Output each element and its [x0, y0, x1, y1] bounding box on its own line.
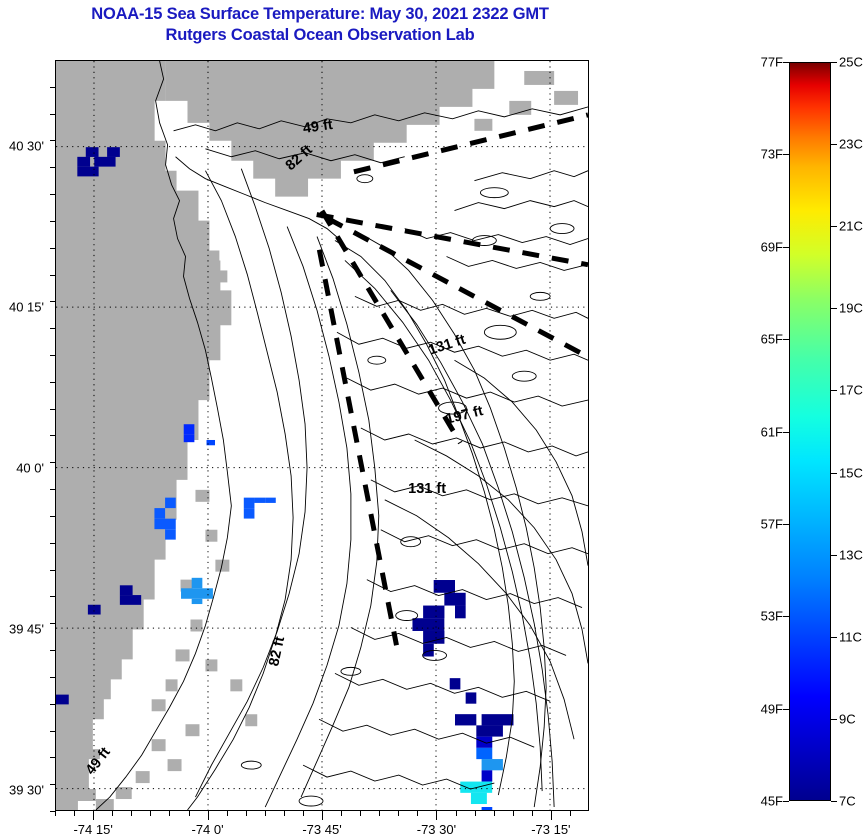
y-axis-tick	[50, 435, 55, 436]
sst-pixel	[165, 529, 176, 539]
sst-pixel	[482, 807, 493, 810]
sst-map-plot-area[interactable]: 49 ft82 ft131 ft197 ft131 ft82 ft49 ft	[55, 60, 589, 811]
sst-pixel	[412, 618, 444, 631]
x-axis-label: -73 30'	[417, 822, 456, 837]
y-axis-label: 40 15'	[9, 299, 44, 314]
x-axis-tick	[208, 811, 209, 820]
colorbar-tick-right	[831, 390, 837, 391]
x-axis-tick	[112, 811, 113, 816]
y-axis-tick	[50, 462, 55, 463]
sst-pixel	[471, 793, 487, 804]
colorbar-label-fahrenheit: 65F	[745, 332, 783, 347]
sst-pixel	[77, 167, 98, 177]
y-axis-tick	[50, 248, 55, 249]
track-sw-steep	[322, 211, 460, 443]
colorbar-tick-left	[783, 616, 789, 617]
sst-pixel	[192, 599, 203, 604]
ship-track-layer	[317, 115, 588, 645]
sst-pixel	[184, 424, 195, 434]
sst-pixel	[154, 519, 175, 529]
sst-pixel	[482, 770, 493, 781]
sst-pixel	[56, 695, 69, 705]
x-axis-tick	[284, 811, 285, 816]
colorbar-tick-left	[783, 154, 789, 155]
x-axis-tick	[74, 811, 75, 816]
y-axis-tick	[50, 140, 55, 141]
colorbar-tick-right	[831, 308, 837, 309]
colorbar-tick-left	[783, 247, 789, 248]
y-axis-tick	[50, 87, 55, 88]
sst-pixel	[154, 508, 165, 518]
y-axis-label: 40 30'	[9, 138, 44, 153]
y-axis-label: 39 45'	[9, 621, 44, 636]
colorbar-tick-right	[831, 226, 837, 227]
y-axis-tick	[50, 275, 55, 276]
colorbar-label-fahrenheit: 61F	[745, 424, 783, 439]
sst-pixel	[265, 498, 276, 503]
sst-pixel	[244, 498, 255, 508]
x-axis-label: -74 15'	[73, 822, 112, 837]
sst-pixel	[482, 714, 514, 725]
y-axis-tick	[50, 194, 55, 195]
x-axis-label: -74 0'	[192, 822, 224, 837]
colorbar-label-celsius: 11C	[839, 629, 862, 644]
x-axis-tick	[417, 811, 418, 816]
colorbar-tick-left	[783, 339, 789, 340]
colorbar-tick-left	[783, 524, 789, 525]
y-axis-label: 39 30'	[9, 782, 44, 797]
y-axis-tick	[50, 355, 55, 356]
colorbar-tick-right	[831, 555, 837, 556]
colorbar-tick-right	[831, 637, 837, 638]
sst-pixel	[86, 147, 99, 157]
colorbar-tick-left	[783, 801, 789, 802]
sst-pixel	[423, 606, 444, 619]
colorbar-label-celsius: 13C	[839, 547, 863, 562]
depth-contour-label: 131 ft	[408, 481, 446, 497]
colorbar-tick-right	[831, 801, 837, 802]
x-axis-tick	[570, 811, 571, 816]
colorbar-label-fahrenheit: 45F	[745, 794, 783, 809]
sst-pixel	[88, 605, 101, 615]
sst-pixel	[476, 748, 492, 759]
y-axis-tick	[50, 489, 55, 490]
y-axis-tick	[50, 731, 55, 732]
sst-pixel	[450, 678, 461, 689]
colorbar-label-fahrenheit: 49F	[745, 701, 783, 716]
x-axis-tick	[55, 811, 56, 816]
track-sw-long	[319, 250, 396, 645]
colorbar-tick-left	[783, 709, 789, 710]
y-axis-tick	[50, 677, 55, 678]
x-axis-tick	[227, 811, 228, 816]
colorbar-tick-left	[783, 62, 789, 63]
y-axis-tick	[50, 301, 55, 302]
sst-pixel	[455, 714, 476, 725]
colorbar-label-celsius: 17C	[839, 383, 863, 398]
sst-pixel	[444, 593, 465, 606]
colorbar-label-fahrenheit: 69F	[745, 239, 783, 254]
colorbar-label-celsius: 21C	[839, 219, 863, 234]
y-axis-tick	[50, 570, 55, 571]
sst-pixel	[165, 498, 176, 508]
x-axis-tick	[436, 811, 437, 820]
sst-pixel	[254, 498, 265, 503]
track-ne-mid	[317, 215, 588, 265]
x-axis-tick	[551, 811, 552, 820]
sst-pixel	[77, 157, 90, 167]
colorbar-label-celsius: 15C	[839, 465, 863, 480]
y-axis-tick	[50, 623, 55, 624]
colorbar-label-fahrenheit: 77F	[745, 55, 783, 70]
x-axis-tick	[246, 811, 247, 816]
sst-pixel	[107, 147, 120, 157]
sst-pixel	[466, 692, 477, 703]
sst-pixel	[120, 585, 133, 595]
sst-pixel	[423, 631, 444, 644]
y-axis-tick	[50, 596, 55, 597]
y-axis-tick	[50, 516, 55, 517]
x-axis-tick	[169, 811, 170, 816]
colorbar-tick-right	[831, 719, 837, 720]
colorbar-label-celsius: 19C	[839, 301, 863, 316]
x-axis-tick	[360, 811, 361, 816]
y-axis-tick	[50, 221, 55, 222]
y-axis-tick	[50, 543, 55, 544]
y-axis-tick	[50, 784, 55, 785]
colorbar-tick-right	[831, 144, 837, 145]
x-axis-tick	[456, 811, 457, 816]
x-axis-tick	[150, 811, 151, 816]
colorbar-label-celsius: 25C	[839, 55, 863, 70]
sst-pixel	[120, 595, 141, 605]
y-axis-tick	[50, 650, 55, 651]
map-canvas	[56, 61, 588, 810]
colorbar-group[interactable]	[789, 62, 831, 801]
x-axis-tick	[341, 811, 342, 816]
sst-pixel	[455, 606, 466, 619]
sst-pixel	[482, 759, 503, 770]
colorbar-label-celsius: 9C	[839, 711, 856, 726]
y-axis-tick	[50, 704, 55, 705]
chart-title-line-2: Rutgers Coastal Ocean Observation Lab	[0, 25, 640, 46]
x-axis-tick	[322, 811, 323, 820]
x-axis-tick	[303, 811, 304, 816]
x-axis-tick	[513, 811, 514, 816]
y-axis-label: 40 0'	[16, 460, 44, 475]
x-axis-tick	[379, 811, 380, 816]
colorbar-label-fahrenheit: 57F	[745, 516, 783, 531]
y-axis-tick	[50, 167, 55, 168]
colorbar-label-fahrenheit: 73F	[745, 147, 783, 162]
x-axis-tick	[265, 811, 266, 816]
x-axis-tick	[532, 811, 533, 816]
colorbar-tick-right	[831, 473, 837, 474]
x-axis-tick	[131, 811, 132, 816]
colorbar-label-celsius: 23C	[839, 137, 863, 152]
y-axis-tick	[50, 328, 55, 329]
x-axis-tick	[398, 811, 399, 816]
y-axis-tick	[50, 409, 55, 410]
chart-title-line-1: NOAA-15 Sea Surface Temperature: May 30,…	[0, 4, 640, 25]
sst-pixel	[476, 725, 503, 736]
colorbar-tick-right	[831, 62, 837, 63]
sst-pixel	[184, 435, 195, 442]
y-axis-tick	[50, 382, 55, 383]
y-axis-tick	[50, 114, 55, 115]
y-axis-tick	[50, 757, 55, 758]
x-axis-tick	[93, 811, 94, 820]
sst-pixel	[192, 578, 203, 588]
x-axis-tick	[189, 811, 190, 816]
colorbar-label-fahrenheit: 53F	[745, 609, 783, 624]
sst-pixel	[434, 580, 455, 593]
x-axis-label: -73 15'	[531, 822, 570, 837]
y-axis-tick	[50, 811, 55, 812]
chart-title-block: NOAA-15 Sea Surface Temperature: May 30,…	[0, 4, 640, 46]
x-axis-label: -73 45'	[302, 822, 341, 837]
x-axis-tick	[475, 811, 476, 816]
x-axis-tick	[494, 811, 495, 816]
colorbar-gradient	[789, 62, 831, 801]
sst-pixel	[244, 508, 255, 518]
colorbar-label-celsius: 7C	[839, 794, 856, 809]
sst-pixel	[94, 157, 115, 167]
colorbar-tick-left	[783, 432, 789, 433]
